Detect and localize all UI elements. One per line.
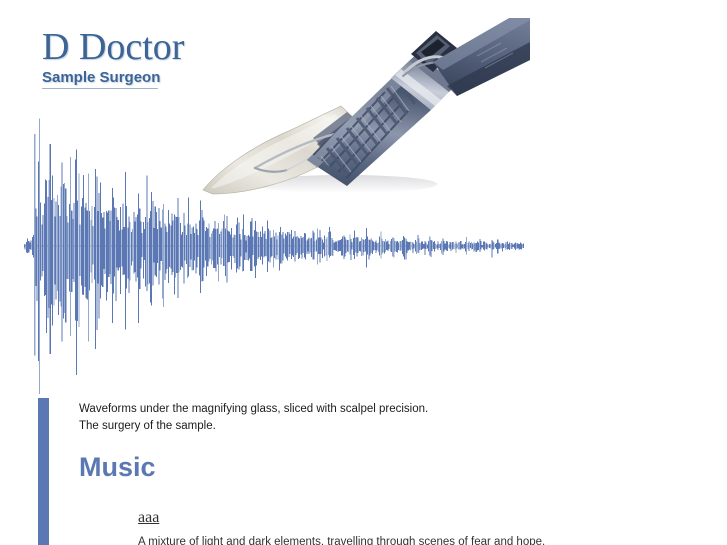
page-canvas: D Doctor Sample Surgeon bbox=[0, 0, 727, 545]
page-title: Music bbox=[79, 452, 156, 483]
site-logo[interactable]: D Doctor Sample Surgeon bbox=[42, 26, 302, 89]
waveform-container bbox=[24, 96, 524, 396]
left-accent-bar bbox=[38, 398, 49, 545]
entry-title-link[interactable]: aaa bbox=[138, 508, 159, 527]
entry-description: A mixture of light and dark elements, tr… bbox=[138, 534, 658, 545]
site-logo-tagline-wrap: Sample Surgeon bbox=[42, 69, 160, 89]
audio-waveform-icon bbox=[24, 96, 524, 396]
site-logo-title: D Doctor bbox=[42, 26, 302, 68]
site-logo-tagline: Sample Surgeon bbox=[42, 69, 160, 86]
intro-text: Waveforms under the magnifying glass, sl… bbox=[79, 401, 639, 435]
list-item: aaa A mixture of light and dark elements… bbox=[138, 508, 658, 545]
intro-line-1: Waveforms under the magnifying glass, sl… bbox=[79, 401, 639, 418]
intro-line-2: The surgery of the sample. bbox=[79, 418, 639, 435]
logo-underline-rule bbox=[42, 88, 158, 89]
